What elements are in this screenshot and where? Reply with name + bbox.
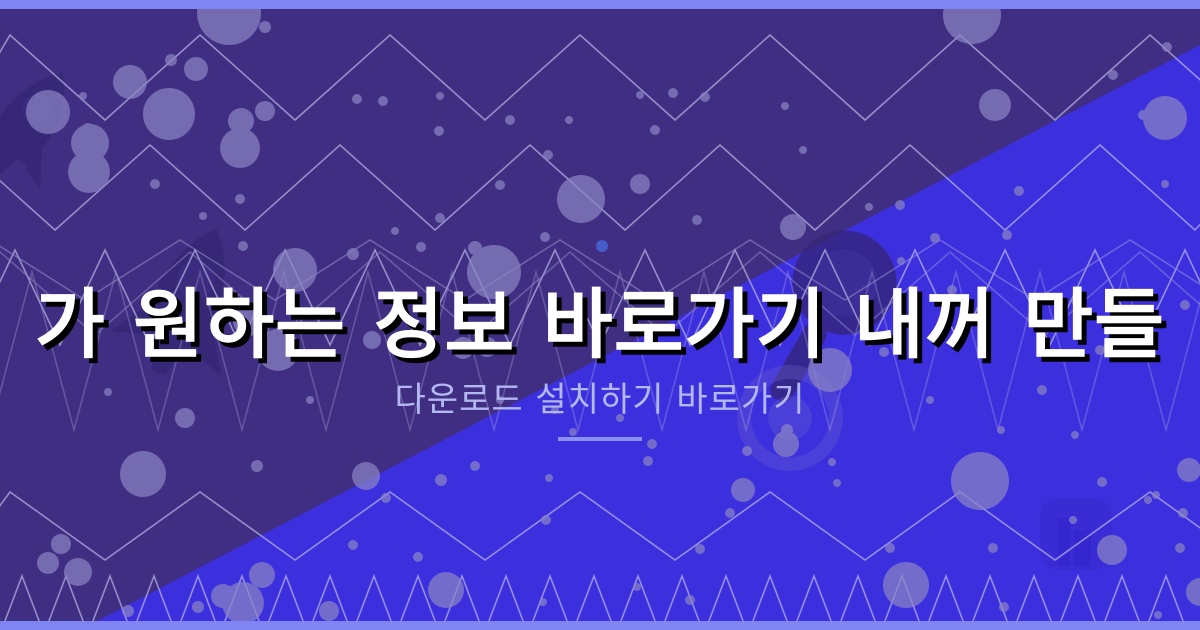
page-subtitle: 다운로드 설치하기 바로가기 bbox=[395, 383, 806, 417]
page-title: 가 원하는 정보 바로가기 내꺼 만들 bbox=[35, 287, 1165, 363]
banner-content: 가 원하는 정보 바로가기 내꺼 만들 다운로드 설치하기 바로가기 bbox=[0, 0, 1200, 630]
title-underline-rule bbox=[558, 437, 642, 441]
promo-banner: 가 원하는 정보 바로가기 내꺼 만들 다운로드 설치하기 바로가기 bbox=[0, 0, 1200, 630]
